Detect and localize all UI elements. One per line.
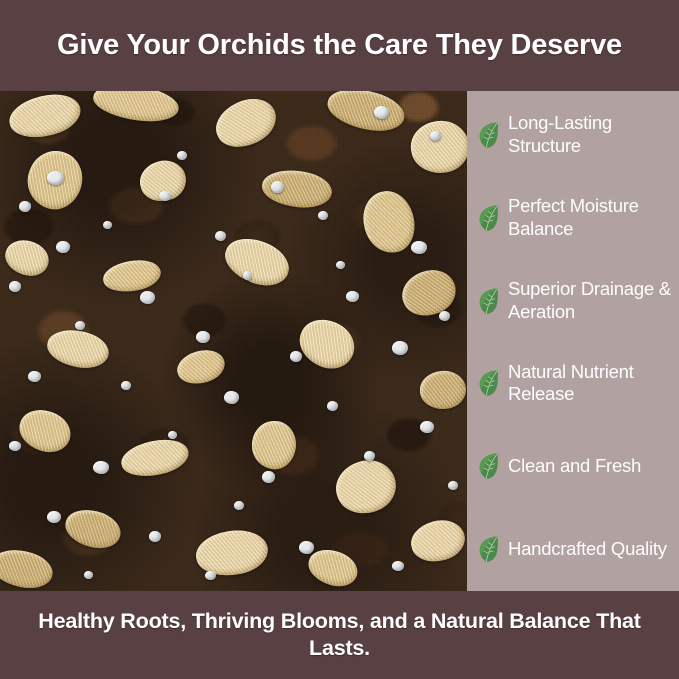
feature-label: Handcrafted Quality [508,538,667,561]
feature-label: Long-Lasting Structure [508,112,675,157]
leaf-icon [477,203,501,233]
leaf-icon [477,368,501,398]
perlite-layer [0,91,467,591]
orchid-mix-infographic: Give Your Orchids the Care They Deserve [0,0,679,679]
feature-item-clean-and-fresh: Clean and Fresh [477,440,675,492]
leaf-icon [477,120,501,150]
feature-item-natural-nutrient-release: Natural Nutrient Release [477,357,675,409]
header-banner: Give Your Orchids the Care They Deserve [0,0,679,91]
feature-label: Natural Nutrient Release [508,361,675,406]
feature-item-long-lasting-structure: Long-Lasting Structure [477,109,675,161]
content-band: Long-Lasting Structure Perfect Moistu [0,91,679,591]
feature-item-superior-drainage-aeration: Superior Drainage & Aeration [477,275,675,327]
page-title: Give Your Orchids the Care They Deserve [57,28,622,63]
feature-item-handcrafted-quality: Handcrafted Quality [477,523,675,575]
feature-label: Perfect Moisture Balance [508,195,675,240]
feature-list: Long-Lasting Structure Perfect Moistu [467,91,679,591]
footer-banner: Healthy Roots, Thriving Blooms, and a Na… [0,591,679,679]
leaf-icon [477,451,501,481]
footer-tagline: Healthy Roots, Thriving Blooms, and a Na… [24,608,655,662]
feature-item-perfect-moisture-balance: Perfect Moisture Balance [477,192,675,244]
feature-label: Superior Drainage & Aeration [508,278,675,323]
product-photo [0,91,467,591]
photo-canvas [0,91,467,591]
leaf-icon [477,286,501,316]
feature-label: Clean and Fresh [508,455,641,478]
leaf-icon [477,534,501,564]
